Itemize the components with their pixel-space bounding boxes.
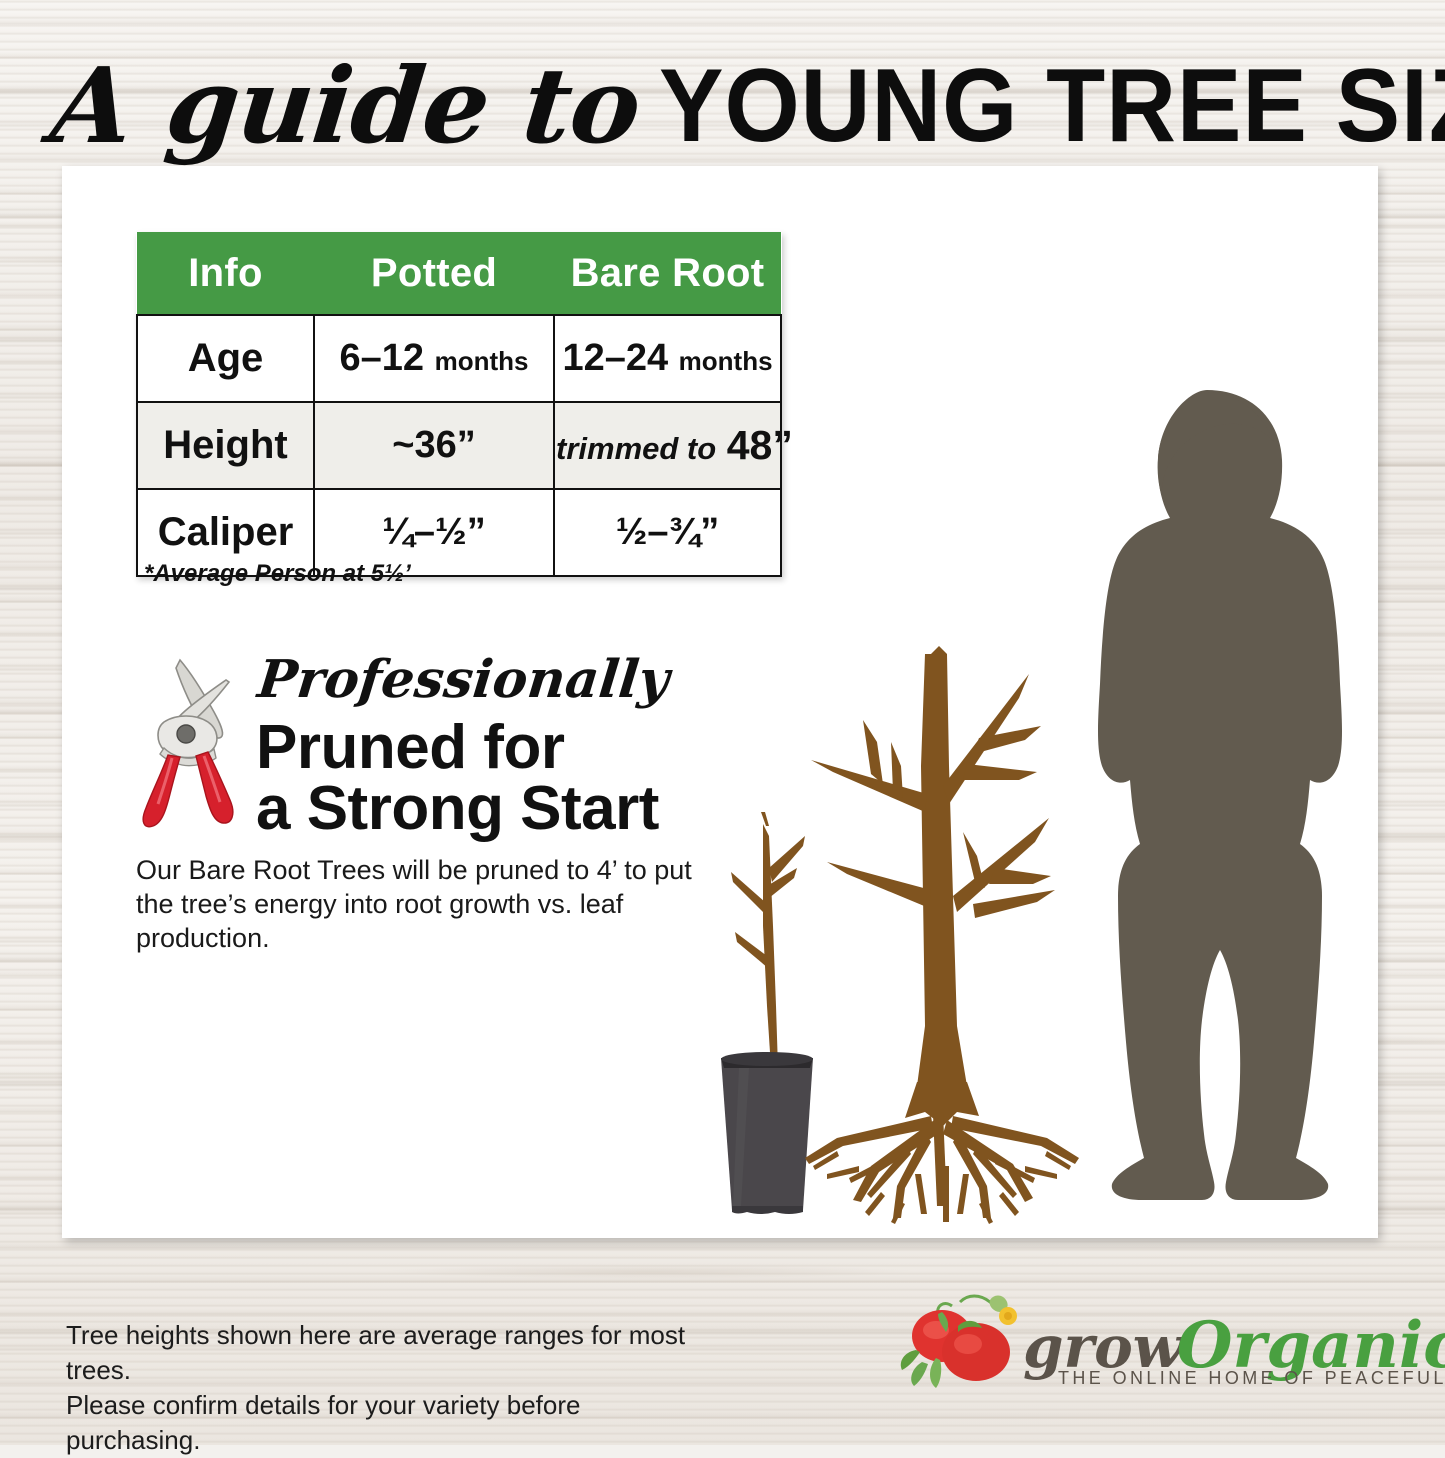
page-title-block: YOUNG TREE SIZES: [659, 54, 1445, 158]
pruning-headline-line2: a Strong Start: [256, 779, 659, 840]
person-silhouette: [1042, 384, 1372, 1224]
grow-organic-logo[interactable]: growOrganic.COM THE ONLINE HOME OF PEACE…: [898, 1292, 1398, 1408]
row-label-height: Height: [137, 402, 314, 489]
disclaimer-line1: Tree heights shown here are average rang…: [66, 1318, 706, 1388]
page-title: A guide to YOUNG TREE SIZES: [52, 46, 1402, 166]
row-label-age: Age: [137, 315, 314, 402]
cell-height-potted: ~36”: [314, 402, 554, 489]
pruning-script-line: Professionally: [255, 654, 671, 706]
cell-age-potted: 6–12 months: [314, 315, 554, 402]
disclaimer-text: Tree heights shown here are average rang…: [66, 1318, 706, 1458]
pruning-shears-icon: [134, 652, 250, 832]
column-header-info: Info: [137, 232, 314, 315]
pruning-body-line1: Our Bare Root Trees will be pruned to 4’…: [136, 854, 696, 888]
column-header-potted: Potted: [314, 232, 554, 315]
content-card: Info Potted Bare Root Age 6–12 months 12…: [62, 166, 1378, 1238]
pruning-headline: Pruned for a Strong Start: [256, 718, 659, 840]
cell-age-potted-value: 6–12: [340, 337, 425, 379]
pruning-body-line2: the tree’s energy into root growth vs. l…: [136, 888, 696, 956]
cell-age-potted-unit: months: [435, 346, 529, 376]
pruning-headline-line1: Pruned for: [256, 718, 659, 779]
page-title-script: A guide to: [47, 54, 645, 158]
tomato-icon: [898, 1292, 1038, 1392]
size-comparison-illustration: [622, 206, 1362, 1216]
disclaimer-line2: Please confirm details for your variety …: [66, 1388, 706, 1458]
logo-tagline: THE ONLINE HOME OF PEACEFUL VALLEY: [1058, 1368, 1445, 1389]
average-person-footnote: *Average Person at 5½’: [144, 560, 411, 588]
pruning-body-text: Our Bare Root Trees will be pruned to 4’…: [136, 854, 696, 955]
